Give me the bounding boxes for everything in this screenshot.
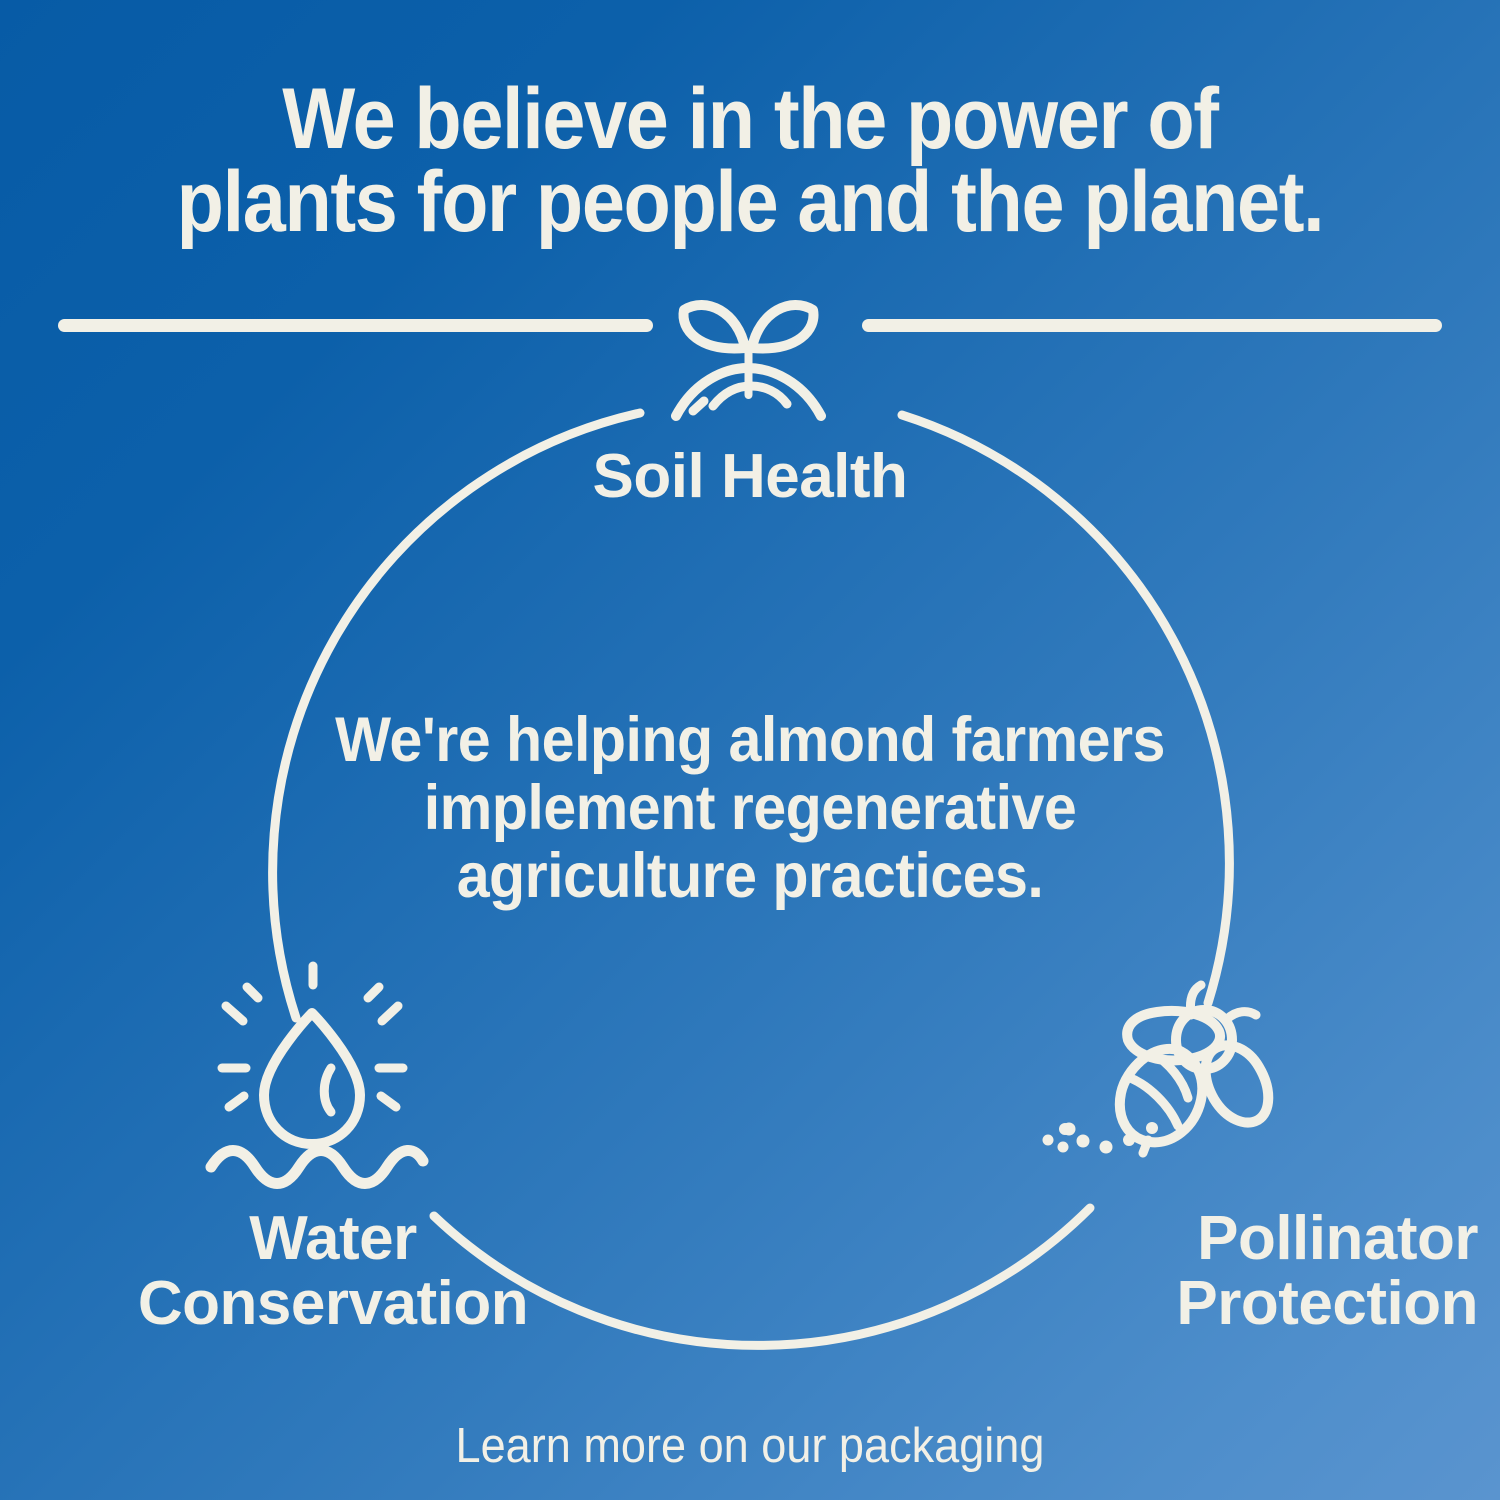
cycle-label-pollinator-protection: Pollinator Protection xyxy=(878,1206,1478,1336)
water-drop-icon xyxy=(211,966,423,1184)
center-body-text: We're helping almond farmers implement r… xyxy=(327,706,1173,910)
footer-note: Learn more on our packaging xyxy=(60,1418,1440,1474)
cycle-label-pollinator-line-2: Protection xyxy=(878,1271,1478,1336)
cycle-label-water-conservation: Water Conservation xyxy=(28,1206,638,1336)
infographic-canvas: We believe in the power of plants for pe… xyxy=(0,0,1500,1500)
cycle-label-water-line-2: Conservation xyxy=(28,1271,638,1336)
cycle-label-water-line-1: Water xyxy=(28,1206,638,1271)
seedling-icon xyxy=(676,305,821,416)
cycle-label-pollinator-line-1: Pollinator xyxy=(878,1206,1478,1271)
cycle-label-soil-health: Soil Health xyxy=(0,446,1500,508)
bee-icon xyxy=(1043,985,1269,1154)
